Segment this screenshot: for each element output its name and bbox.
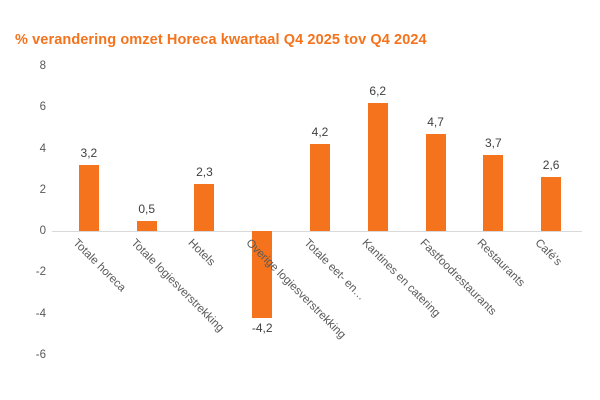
bar[interactable] xyxy=(483,155,503,231)
y-axis-tick-label: 6 xyxy=(0,101,46,113)
x-axis-category-label[interactable]: Totale horeca xyxy=(70,237,127,294)
bar[interactable] xyxy=(310,144,330,231)
bar[interactable] xyxy=(368,103,388,231)
x-axis-category-label[interactable]: Totale eet- en… xyxy=(302,237,368,303)
bar-value-label: 6,2 xyxy=(369,84,386,98)
y-axis-tick-label: -2 xyxy=(0,266,46,278)
bar-value-label: 4,2 xyxy=(312,125,329,139)
bar[interactable] xyxy=(137,221,157,231)
y-axis-tick-label: 4 xyxy=(0,143,46,155)
bar-value-label: 2,6 xyxy=(543,158,560,172)
bar-value-label: 3,7 xyxy=(485,136,502,150)
y-axis-tick-label: 2 xyxy=(0,184,46,196)
x-axis-category-label[interactable]: Hotels xyxy=(186,237,218,269)
x-axis-category-label[interactable]: Totale logiesverstrekking xyxy=(128,237,226,335)
bar[interactable] xyxy=(79,165,99,231)
x-axis-category-label[interactable]: Café's xyxy=(533,237,564,268)
plot-area: 86420-2-4-6 3,20,52,3-4,24,26,24,73,72,6… xyxy=(0,0,600,400)
bar-value-label: 3,2 xyxy=(81,146,98,160)
y-axis-tick-label: -4 xyxy=(0,308,46,320)
y-axis-tick-label: -6 xyxy=(0,349,46,361)
x-axis-category-label[interactable]: Restaurants xyxy=(475,237,527,289)
zero-axis-line xyxy=(52,231,582,232)
bar-value-label: -4,2 xyxy=(252,321,273,335)
bar[interactable] xyxy=(541,177,561,231)
bar-value-label: 2,3 xyxy=(196,165,213,179)
y-axis-tick-label: 0 xyxy=(0,225,46,237)
bar[interactable] xyxy=(426,134,446,231)
y-axis-tick-label: 8 xyxy=(0,60,46,72)
bar[interactable] xyxy=(194,184,214,231)
bar-value-label: 0,5 xyxy=(138,202,155,216)
bar-chart: % verandering omzet Horeca kwartaal Q4 2… xyxy=(0,0,600,400)
bar-value-label: 4,7 xyxy=(427,115,444,129)
